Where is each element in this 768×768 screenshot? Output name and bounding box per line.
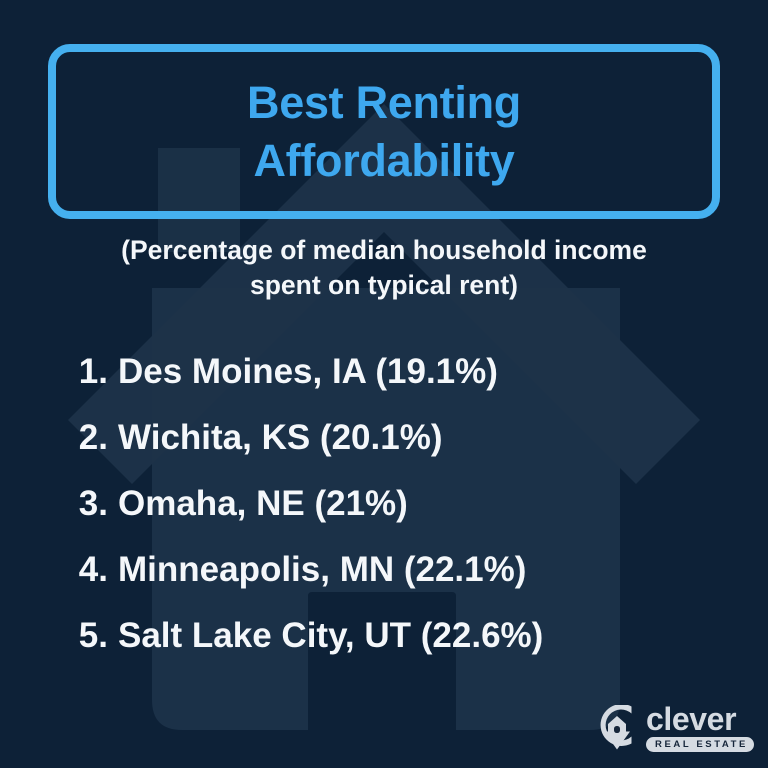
rank-label: Minneapolis, MN (22.1%) <box>118 550 526 590</box>
clever-real-estate-logo[interactable]: clever REAL ESTATE <box>597 704 754 752</box>
rank-label: Omaha, NE (21%) <box>118 484 408 524</box>
page-title: Best Renting Affordability <box>247 74 521 189</box>
rank-label: Des Moines, IA (19.1%) <box>118 352 498 392</box>
infographic-poster: Best Renting Affordability (Percentage o… <box>0 0 768 768</box>
subtitle: (Percentage of median household income s… <box>54 233 714 303</box>
rank-number: 3. <box>60 484 118 524</box>
list-item: 5. Salt Lake City, UT (22.6%) <box>0 616 768 682</box>
logo-text-group: clever REAL ESTATE <box>646 704 754 752</box>
rank-label: Salt Lake City, UT (22.6%) <box>118 616 543 656</box>
list-item: 2. Wichita, KS (20.1%) <box>0 418 768 484</box>
title-box: Best Renting Affordability <box>48 44 720 219</box>
list-item: 4. Minneapolis, MN (22.1%) <box>0 550 768 616</box>
logo-tagline: REAL ESTATE <box>646 737 754 752</box>
list-item: 1. Des Moines, IA (19.1%) <box>0 352 768 418</box>
rank-number: 5. <box>60 616 118 656</box>
clever-house-pin-icon <box>597 705 639 751</box>
logo-wordmark: clever <box>646 704 754 734</box>
rank-number: 4. <box>60 550 118 590</box>
list-item: 3. Omaha, NE (21%) <box>0 484 768 550</box>
rank-number: 2. <box>60 418 118 458</box>
rank-label: Wichita, KS (20.1%) <box>118 418 443 458</box>
ranking-list: 1. Des Moines, IA (19.1%) 2. Wichita, KS… <box>0 352 768 682</box>
rank-number: 1. <box>60 352 118 392</box>
